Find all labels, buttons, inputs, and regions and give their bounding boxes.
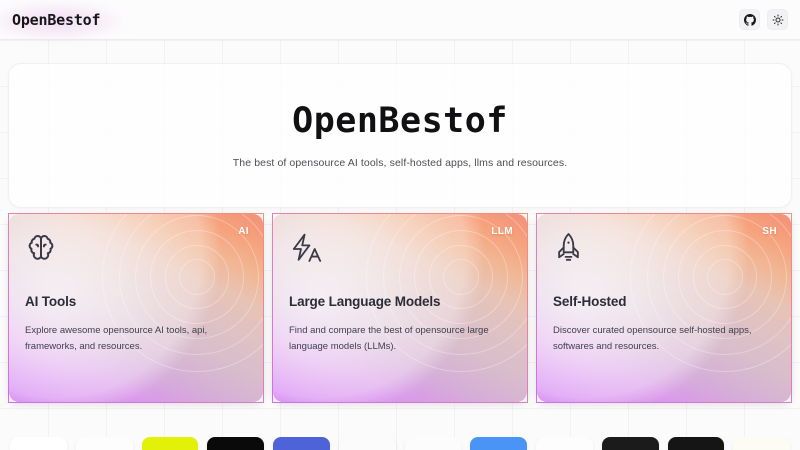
card-title: Large Language Models: [289, 294, 511, 309]
category-card-self-hosted[interactable]: SH Self-Hosted Discover curated opensour…: [536, 213, 792, 403]
card-badge: AI: [238, 226, 249, 237]
card-title: Self-Hosted: [553, 294, 775, 309]
logo-tile-8[interactable]: [470, 437, 527, 450]
site-header: OpenBestof: [0, 0, 800, 40]
card-title: AI Tools: [25, 294, 247, 309]
card-content: AI Tools Explore awesome opensource AI t…: [9, 214, 263, 402]
logo-strip: [0, 437, 800, 450]
sun-icon: [772, 14, 784, 26]
page-root: OpenBestof OpenBestof: [0, 0, 800, 450]
card-badge: LLM: [491, 226, 513, 237]
card-content: Self-Hosted Discover curated opensource …: [537, 214, 791, 402]
logo-tile-1[interactable]: [10, 437, 67, 450]
category-card-ai-tools[interactable]: AI AI Tools Explore awesome opensource A…: [8, 213, 264, 403]
card-description: Find and compare the best of opensource …: [289, 323, 494, 354]
github-icon: [744, 14, 756, 26]
rocket-icon: [553, 232, 775, 272]
category-card-large-language-models[interactable]: LLM Large Language Models Find and compa…: [272, 213, 528, 403]
github-link[interactable]: [739, 9, 760, 30]
category-card-list: AI AI Tools Explore awesome opensource A…: [8, 213, 792, 403]
logo-tile-6[interactable]: [339, 437, 396, 450]
page-title: OpenBestof: [292, 102, 508, 141]
logo-tile-9[interactable]: [536, 437, 593, 450]
brand-logo-text[interactable]: OpenBestof: [12, 11, 100, 29]
logo-tile-4[interactable]: [207, 437, 264, 450]
logo-tile-3[interactable]: [142, 437, 199, 450]
brain-icon: [25, 232, 247, 272]
logo-tile-10[interactable]: [602, 437, 659, 450]
hero-panel: OpenBestof The best of opensource AI too…: [8, 63, 792, 208]
card-badge: SH: [762, 226, 777, 237]
logo-tile-7[interactable]: [405, 437, 462, 450]
brand-wrapper[interactable]: OpenBestof: [12, 11, 100, 29]
card-description: Explore awesome opensource AI tools, api…: [25, 323, 230, 354]
logo-tile-11[interactable]: [668, 437, 725, 450]
card-content: Large Language Models Find and compare t…: [273, 214, 527, 402]
header-actions: [739, 9, 788, 30]
lightning-a-icon: [289, 232, 511, 272]
hero-subtitle: The best of opensource AI tools, self-ho…: [233, 157, 567, 169]
theme-toggle[interactable]: [767, 9, 788, 30]
logo-tile-5[interactable]: [273, 437, 330, 450]
logo-tile-2[interactable]: [76, 437, 133, 450]
card-description: Discover curated opensource self-hosted …: [553, 323, 758, 354]
logo-tile-12[interactable]: [733, 437, 790, 450]
